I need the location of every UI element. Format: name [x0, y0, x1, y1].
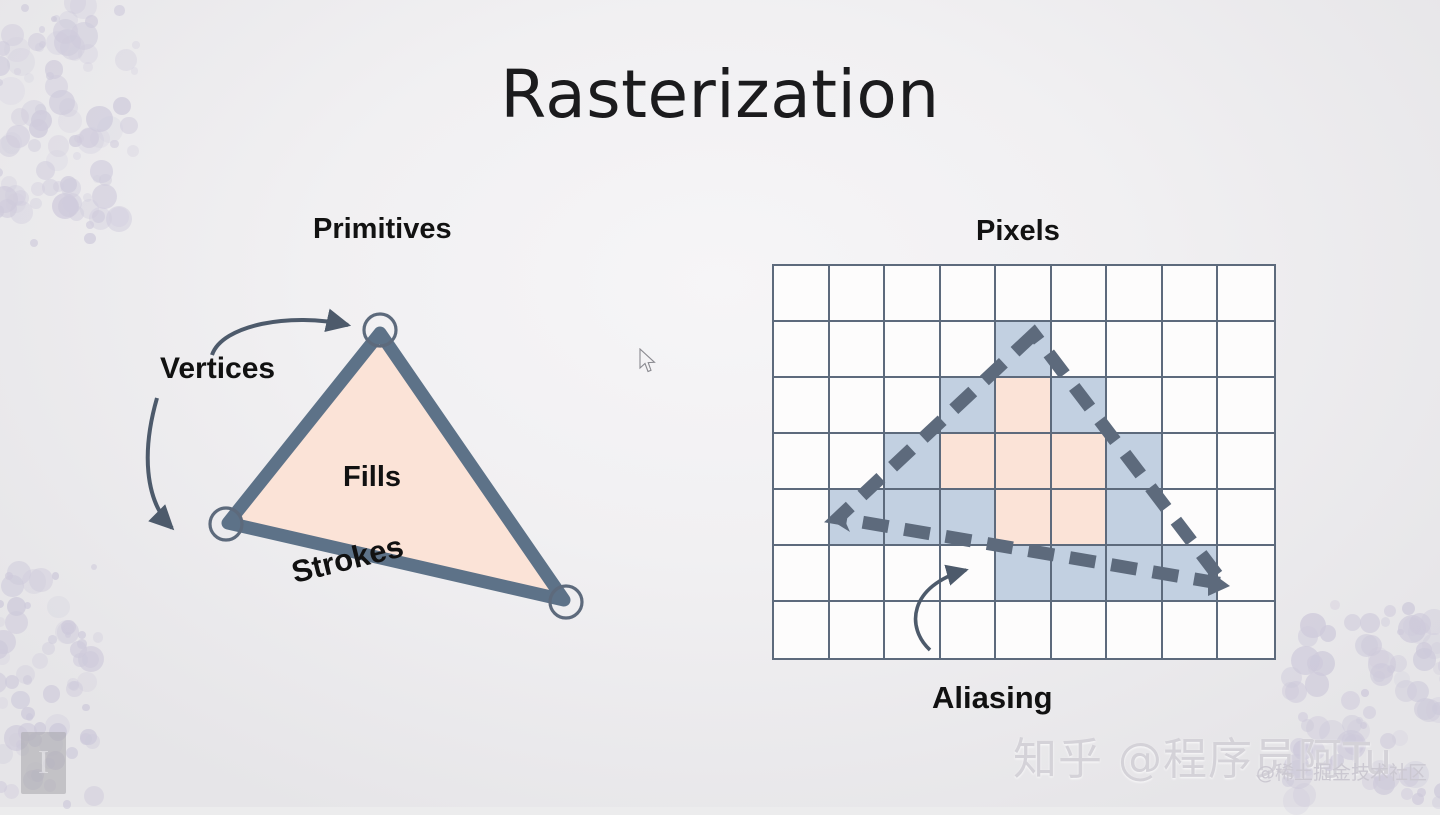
pixel-cell — [941, 322, 997, 378]
triangle-primitive-svg — [120, 270, 640, 650]
section-heading-primitives: Primitives — [313, 213, 452, 246]
pixel-grid — [772, 264, 1276, 660]
pixel-grid-wrapper — [772, 264, 1276, 660]
pixel-cell — [941, 434, 997, 490]
pixel-cell — [1052, 378, 1108, 434]
pixel-cell — [996, 378, 1052, 434]
pixel-cell — [1052, 546, 1108, 602]
pixel-cell — [1052, 322, 1108, 378]
pixel-cell — [1107, 546, 1163, 602]
slide-title: Rasterization — [0, 56, 1440, 133]
pixel-cell — [830, 434, 886, 490]
pixel-cell — [941, 266, 997, 322]
primitives-diagram — [120, 270, 640, 650]
section-heading-pixels: Pixels — [976, 215, 1060, 248]
pixel-cell — [1052, 434, 1108, 490]
pixel-cell — [1107, 434, 1163, 490]
pixel-cell — [1163, 378, 1219, 434]
pixel-cell — [1107, 322, 1163, 378]
pixel-cell — [996, 490, 1052, 546]
pixel-cell — [1107, 490, 1163, 546]
mouse-cursor-icon — [638, 348, 658, 374]
pixel-cell — [1052, 602, 1108, 658]
pixel-cell — [885, 322, 941, 378]
pixel-cell — [996, 434, 1052, 490]
pixel-cell — [1218, 490, 1274, 546]
pixel-cell — [774, 434, 830, 490]
pixel-cell — [774, 322, 830, 378]
label-fills: Fills — [343, 461, 401, 494]
pixel-cell — [996, 546, 1052, 602]
pixel-cell — [774, 602, 830, 658]
pixel-cell — [885, 266, 941, 322]
pixel-cell — [885, 378, 941, 434]
pixel-cell — [1163, 434, 1219, 490]
pixel-cell — [996, 322, 1052, 378]
pixel-cell — [830, 378, 886, 434]
pixel-cell — [941, 378, 997, 434]
pixel-cell — [1052, 490, 1108, 546]
pixel-cell — [996, 266, 1052, 322]
aliasing-callout-arrow — [884, 532, 1004, 652]
pixel-cell — [1218, 378, 1274, 434]
pixel-cell — [774, 266, 830, 322]
label-aliasing: Aliasing — [932, 680, 1053, 716]
arrow-to-left-vertex — [148, 398, 172, 528]
pixel-cell — [774, 378, 830, 434]
pixel-cell — [830, 546, 886, 602]
pixel-cell — [774, 546, 830, 602]
pixel-cell — [830, 322, 886, 378]
pixel-cell — [1163, 602, 1219, 658]
corner-logo: I — [21, 732, 66, 794]
pixel-cell — [1163, 322, 1219, 378]
pixel-cell — [1218, 266, 1274, 322]
slide-canvas: Rasterization Primitives Vertices Fills … — [0, 0, 1440, 807]
label-vertices: Vertices — [160, 352, 275, 386]
pixel-cell — [1218, 602, 1274, 658]
arrow-to-top-vertex — [212, 320, 348, 355]
pixel-cell — [1218, 434, 1274, 490]
pixel-cell — [1107, 602, 1163, 658]
pixel-cell — [830, 266, 886, 322]
pixel-cell — [1052, 266, 1108, 322]
pixel-cell — [1163, 266, 1219, 322]
watermark-secondary: @稀土掘金技术社区 — [1256, 758, 1427, 785]
pixel-cell — [1163, 490, 1219, 546]
pixel-cell — [1107, 378, 1163, 434]
pixel-cell — [885, 434, 941, 490]
pixel-cell — [1107, 266, 1163, 322]
pixel-cell — [774, 490, 830, 546]
pixel-cell — [1218, 546, 1274, 602]
pixel-cell — [996, 602, 1052, 658]
pixel-cell — [830, 490, 886, 546]
pixel-cell — [1163, 546, 1219, 602]
pixel-cell — [1218, 322, 1274, 378]
pixel-cell — [830, 602, 886, 658]
